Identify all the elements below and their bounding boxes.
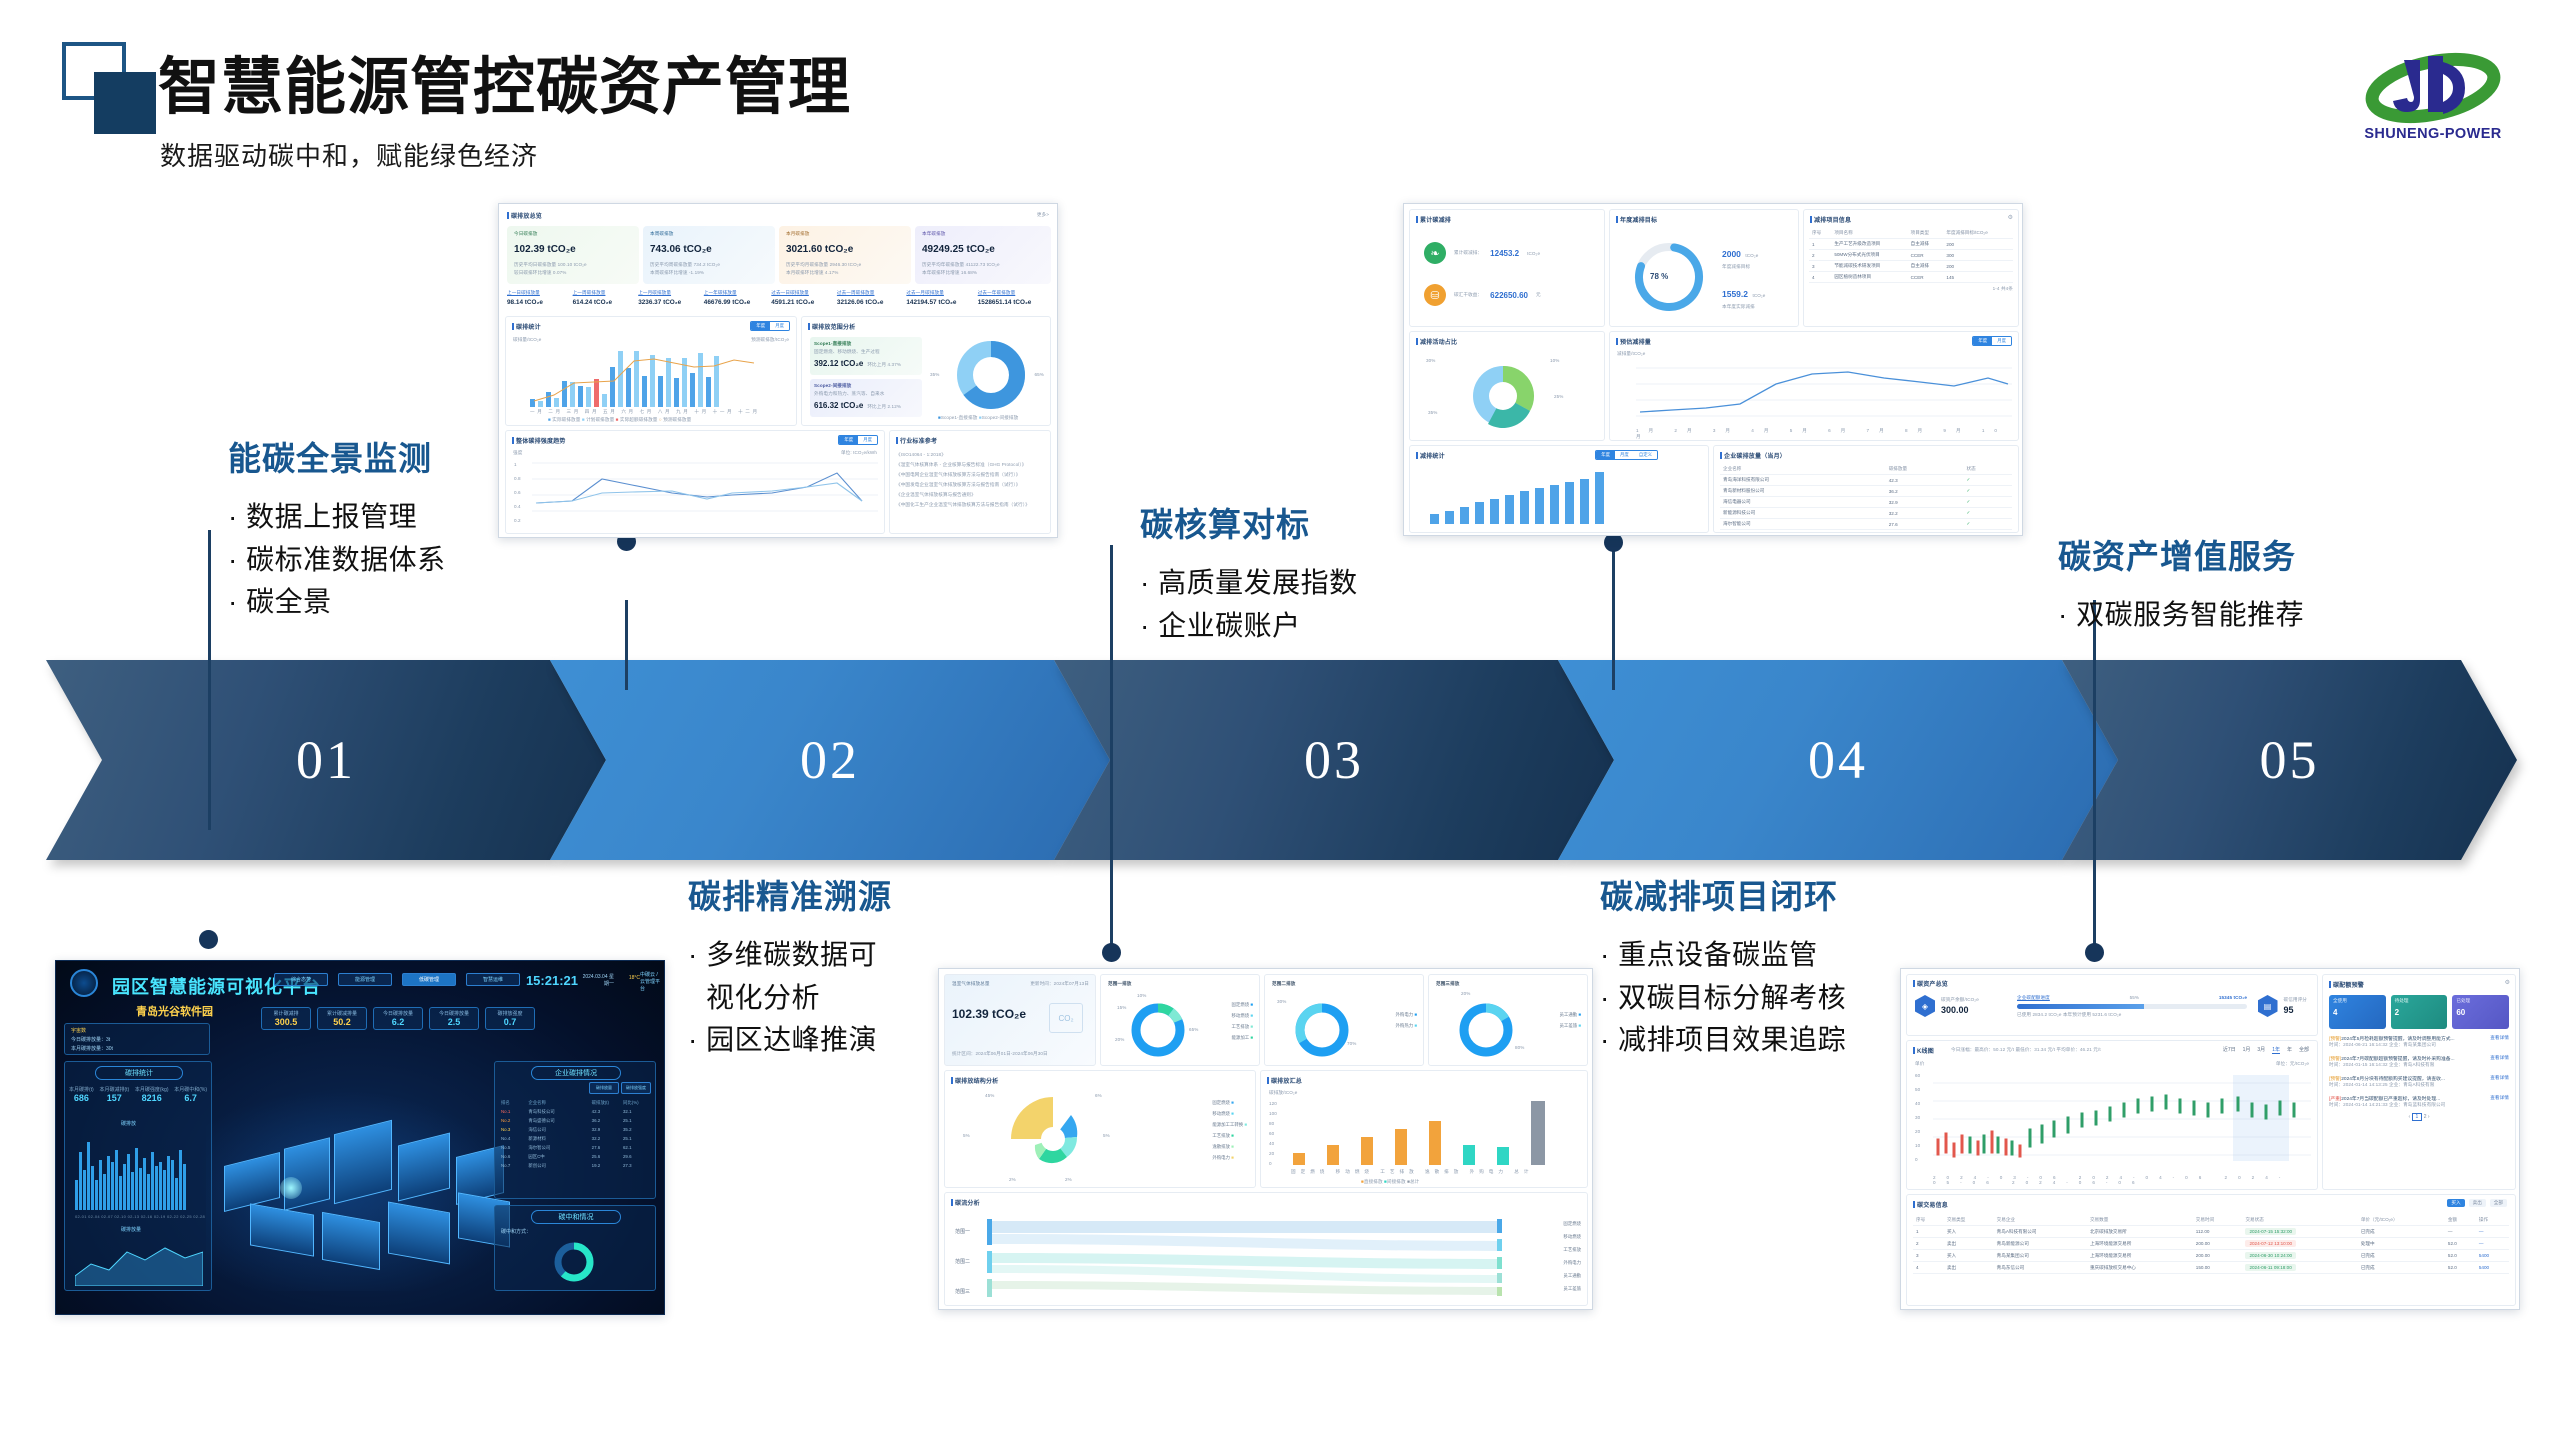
- axis-label-right: 预测碳排放/tCO₂e: [751, 337, 789, 343]
- progress-value: 15345 tCO₂e: [2219, 995, 2247, 1001]
- sub-kpi-label[interactable]: 上一日碳排放量: [507, 290, 573, 296]
- panel-scope3: 范围三排放 20% 80% 员工通勤 ■ 员工差旅 ■: [1428, 974, 1588, 1066]
- stat-bars: [1430, 472, 1604, 524]
- panel-sankey: 碳流分析 范围一范围二范围三 固定燃烧移动燃烧: [944, 1192, 1588, 1306]
- connector-dot-05: [2085, 943, 2104, 962]
- connector-stem-05: [2093, 600, 2096, 945]
- panel-title: 碳排统计: [512, 322, 541, 331]
- step-text-02: 碳排精准溯源 · 多维碳数据可 视化分析 · 园区达峰推演: [688, 870, 892, 1062]
- step-text-04: 碳减排项目闭环 · 重点设备碳监管 · 双碳目标分解考核 · 减排项目效果追踪: [1600, 870, 1846, 1062]
- legend-item: 实际碳排放量: [552, 417, 580, 422]
- trade-toggle[interactable]: 买入 卖出 全部: [2447, 1199, 2507, 1207]
- nav-item-0[interactable]: 综合态势: [274, 973, 328, 986]
- step-bullet-02-2: 视化分析: [688, 977, 892, 1020]
- slice-label: 20%: [1115, 1037, 1125, 1042]
- legend-item: 计划碳排放量: [586, 417, 614, 422]
- legend-item: Scope2-间接排放: [982, 415, 1019, 420]
- range-3m[interactable]: 3月: [2257, 1046, 2265, 1054]
- metric-label: 今日碳排放量: [374, 1010, 422, 1017]
- process-arrow-ribbon: 01 02 03 04 05: [46, 660, 2516, 860]
- screenshot-carbon-trace[interactable]: 温室气体排放总量 更新时间：2024年07月13日 102.39 tCO₂e 统…: [938, 968, 1593, 1310]
- slice-label: 6%: [1095, 1093, 1102, 1098]
- company-logo: SHUNENG-POWER: [2358, 42, 2508, 146]
- panel-quota-alert: 碳配额预警 ⚙ 全使用 4 待处理 2 已处理 60: [2322, 974, 2516, 1190]
- alert-card-2[interactable]: 已处理 60: [2452, 995, 2509, 1029]
- table-header-row: 序号交易类型 交易企业交易数量 交易时间交易状态 单价（元/tCO₂e）金额 操…: [1913, 1215, 2509, 1226]
- platform-park-name: 青岛光谷软件园: [136, 1003, 213, 1019]
- scope-donut-chart: [952, 339, 1030, 411]
- step-bullet-03-1: · 高质量发展指数: [1140, 562, 1358, 605]
- process-step-03-arrow[interactable]: 03: [1054, 660, 1614, 860]
- pie-label: 35%: [1428, 410, 1438, 415]
- panel-title: 累计碳减排: [1416, 215, 1451, 224]
- slice-label: 70%: [1347, 1041, 1357, 1046]
- alert-meta: 时间：2024-01-14 14:21:33 企业：青岛蓝科技有限公司: [2329, 1102, 2509, 1108]
- sum-legend: ■直接排放 ■间接排放 ■总计: [1361, 1179, 1419, 1185]
- metric-value: 2.5: [430, 1017, 478, 1027]
- metric-label: 累计碳减排量: [318, 1010, 366, 1017]
- nav-item-3[interactable]: 智慧运维: [466, 973, 520, 986]
- slice-label: 15%: [1117, 1005, 1127, 1010]
- platform-top-metrics: 累计碳减排 300.5 累计碳减排量 50.2 今日碳排放量 6.2 今日碳排放…: [261, 1007, 535, 1030]
- step-bullet-02-3: · 园区达峰推演: [688, 1019, 892, 1062]
- step-number-02: 02: [550, 660, 1110, 860]
- panel-title: 碳资产总览: [1913, 979, 1948, 988]
- metric-tile: 累计碳减排 300.5: [261, 1007, 311, 1030]
- range-7d[interactable]: 近7日: [2223, 1046, 2236, 1054]
- logo-wordmark: SHUNENG-POWER: [2358, 126, 2508, 142]
- table-row[interactable]: No.3海信公司 32.935.2: [501, 1127, 649, 1133]
- table-row[interactable]: 250MW分布式光伏项目 CCER300: [1809, 250, 2013, 261]
- panel-title: 碳排放范围分析: [808, 322, 855, 331]
- alert-link[interactable]: 查看详情: [2490, 1055, 2509, 1062]
- forecast-x-axis: 1月 2月 3月 4月 5月 6月 7月 8月 9月 10月: [1636, 428, 2018, 440]
- progress-label[interactable]: 企业碳配额进度: [2017, 995, 2050, 1001]
- legend-item: 移动燃烧 ■: [1212, 1108, 1247, 1119]
- sum-unit: 碳排放/tCO₂e: [1269, 1090, 1297, 1096]
- range-year[interactable]: 年: [2287, 1046, 2292, 1054]
- step-bullet-01-3: · 碳全景: [228, 581, 446, 624]
- panel-forecast-reduction: 预估减排量 年度 月度 减排量/tCO₂e 1月 2月 3月 4月 5月 6月 …: [1609, 331, 2019, 441]
- metric: 本月碳减排(t) 157: [99, 1086, 129, 1103]
- page-2[interactable]: 2: [2424, 1114, 2427, 1120]
- scope1-card: Scope1-直接排放 固定燃烧、移动燃烧、生产过程 392.12 tCO₂e …: [810, 337, 922, 375]
- chart-legend-2: 碳排放量: [121, 1226, 141, 1233]
- toggle-year-month[interactable]: 年度 月度: [750, 321, 790, 331]
- kpi-card-week: 本周碳排放 743.06 tCO₂e 历史平均周碳排放量 734.2 tCO₂e…: [643, 226, 775, 284]
- col-header: 状态: [1964, 464, 2013, 475]
- toggle-trend-range[interactable]: 年度 月度: [838, 435, 878, 445]
- sub-kpi: 上一日碳排放量 98.14 tCO₂e: [507, 290, 573, 306]
- sankey-left-labels: 范围一范围二范围三: [955, 1217, 970, 1307]
- panel-title: 范围三排放: [1436, 981, 1459, 987]
- pie-label: 30%: [1426, 358, 1436, 363]
- screenshot-park-platform[interactable]: 园区智慧能源可视化平台 青岛光谷软件园 综合态势 能源管理 低碳管理 智慧运维 …: [55, 960, 665, 1315]
- co2-badge-icon: CO₂: [1049, 1003, 1083, 1033]
- progress-block: 企业碳配额进度 55% 15345 tCO₂e 已使用 2834.2 tCO₂e…: [2017, 995, 2247, 1018]
- scope1-delta: 环比上月 4.37%: [867, 362, 901, 368]
- alert-item[interactable]: [预警]2024年5月检耗超额预警提醒，请及时调整用能方式... 查看详情 时间…: [2329, 1035, 2509, 1048]
- metric: 本月碳强度(kg) 8216: [135, 1086, 169, 1103]
- target-percent: 78 %: [1650, 272, 1668, 281]
- legend-item: 外购电力 ■: [1212, 1152, 1247, 1163]
- step-text-03: 碳核算对标 · 高质量发展指数 · 企业碳账户: [1140, 498, 1358, 647]
- scope3-donut: [1453, 997, 1519, 1063]
- trade-buy[interactable]: 买入: [2447, 1199, 2464, 1207]
- panel-scope-analysis: 碳排放范围分析 Scope1-直接排放 固定燃烧、移动燃烧、生产过程 392.1…: [801, 316, 1051, 426]
- chart-summary: 今日涨幅：最高价：50.12 元/t 最低价：31.34 元/t 平均单价：46…: [1951, 1047, 2101, 1053]
- slice-label: 65%: [1189, 1027, 1199, 1032]
- alert-item[interactable]: [严重]2024年7月当碳配额已严重超标，请及时处理... 查看详情 时间：20…: [2329, 1095, 2509, 1108]
- progress-used: 已使用 2834.2 tCO₂e 本年预计使用 5231.6 tCO₂e: [2017, 1012, 2247, 1018]
- table-row[interactable]: 海信电器公司32.9✓: [1720, 497, 2012, 508]
- col-header: 序号: [1809, 228, 1831, 239]
- standard-item[interactable]: 《中国发电企业温室气体排放核算方法与报告指南（试行）》: [896, 480, 1046, 490]
- score-value: 95: [2284, 1005, 2307, 1015]
- table-row[interactable]: No.2青岛盛德公司 36.225.1: [501, 1118, 649, 1124]
- col-header: 年度减排目标/tCO₂e: [1943, 228, 2013, 239]
- panel-scope1: 范围一排放 10% 15% 20% 65% 固定燃烧 ■ 移动燃烧 ■ 工艺排放…: [1100, 974, 1260, 1066]
- reduction-row: ❧ 累计碳减排： 12453.2 tCO₂e: [1424, 242, 1540, 264]
- total-label: 温室气体排放总量: [952, 981, 990, 987]
- standard-item[interactable]: 《温室气体核算体系 - 企业核算与报告标准（GHG Protocol）》: [896, 460, 1046, 470]
- table-row[interactable]: No.5海尔智公司 27.662.1: [501, 1145, 649, 1151]
- hexagon-icon: ◈: [1915, 995, 1935, 1017]
- row-unit: tCO₂e: [1527, 251, 1540, 256]
- sub-kpi-value: 1528651.14 tCO₂e: [978, 299, 1051, 306]
- logo-swoosh-icon: [2358, 42, 2508, 132]
- range-all[interactable]: 全部: [2299, 1046, 2309, 1054]
- trade-sell[interactable]: 卖出: [2469, 1199, 2486, 1207]
- table-row[interactable]: 2卖出 青岛新能源公司上海环境能源交易所 200.00 2024-07-12 1…: [1913, 1238, 2509, 1250]
- table-row[interactable]: 1买入 青岛A科技有限公司北京碳排放交易所 112.00 2024-07-15 …: [1913, 1226, 2509, 1238]
- legend-item: 固定燃烧 ■: [1212, 1097, 1247, 1108]
- toggle-option-year[interactable]: 年度: [1596, 451, 1615, 459]
- legend-item: 外购热力 ■: [1396, 1020, 1417, 1031]
- reduction-row: ⛁ 碳汇干收益： 622650.60 元: [1424, 284, 1541, 306]
- process-step-04-arrow[interactable]: 04: [1558, 660, 2118, 860]
- step-bullet-05-1: · 双碳服务智能推荐: [2058, 594, 2304, 637]
- alert-link[interactable]: 查看详情: [2490, 1095, 2509, 1102]
- metric-label: 碳排放强度: [486, 1010, 534, 1017]
- metric-value: 0.7: [486, 1017, 534, 1027]
- toggle-stat-range[interactable]: 年度 月度 自定义: [1595, 450, 1658, 460]
- step-number-01: 01: [46, 660, 606, 860]
- neutral-label: 碳中和方式：: [501, 1228, 531, 1235]
- panel-title: 碳中和情况: [531, 1210, 621, 1224]
- sankey-flows: [987, 1217, 1507, 1301]
- brand-mark-icon: [62, 42, 158, 134]
- kpi-note-2: 本年碳排环比增速 16.68%: [922, 270, 1044, 276]
- table-row[interactable]: 3买入 青岛某集团公司上海环境能源交易所 200.00 2024-06-30 1…: [1913, 1250, 2509, 1262]
- sub-kpi: 过去一年碳排放量 1528651.14 tCO₂e: [978, 290, 1051, 306]
- kpi-card-month: 本月碳排放 3021.60 tCO₂e 历史平均月碳排放量 2946.30 tC…: [779, 226, 911, 284]
- trade-all[interactable]: 全部: [2490, 1199, 2507, 1207]
- panel-enterprise-ranking: 企业碳排情况 碳排放量 碳排放强度 排名企业名称 碳排放(t)同比(%) No.…: [494, 1061, 656, 1199]
- alert-count: 2: [2395, 1008, 2444, 1017]
- platform-date: 2024.03.04 星期一: [580, 973, 614, 987]
- legend-item: 能源加工工转换 ■: [1212, 1119, 1247, 1130]
- legend-item: 移动燃烧 ■: [1232, 1010, 1253, 1021]
- legend-item: 工艺排放 ■: [1232, 1021, 1253, 1032]
- kpi-value: 3021.60 tCO₂e: [786, 244, 904, 255]
- alert-meta: 时间：2024-06-21 16:14:32 企业：青岛某集团公司: [2329, 1042, 2509, 1048]
- toggle-option-custom[interactable]: 自定义: [1634, 451, 1657, 459]
- table-row[interactable]: No.4新源材料 32.225.1: [501, 1136, 649, 1142]
- range-selector[interactable]: 近7日 1月 3月 1年 年 全部: [2223, 1046, 2309, 1054]
- activity-pie: [1458, 356, 1548, 436]
- range-1y[interactable]: 1年: [2272, 1046, 2280, 1054]
- metric-label: 累计碳减排: [262, 1010, 310, 1017]
- progress-pct: 55%: [2130, 995, 2140, 1001]
- platform-orb-icon: [70, 969, 98, 997]
- sub-kpi: 过去一日碳排放量 4591.21 tCO₂e: [771, 290, 837, 306]
- gear-icon[interactable]: ⚙: [2505, 979, 2510, 986]
- standard-item[interactable]: 《中国化工生产企业温室气体排放核算方法与报告指南（试行）》: [896, 500, 1046, 510]
- platform-tooltip: 宇宙数 今日碳排放量：3t 本月碳排放量：30t: [64, 1023, 210, 1055]
- table-row[interactable]: 4园区植树造林项目 CCER145: [1809, 272, 2013, 283]
- sub-kpi-label[interactable]: 过去一周碳排放量: [837, 290, 906, 296]
- table-header-row: 企业名称 碳排放量 状态: [1720, 464, 2012, 475]
- more-link[interactable]: 更多>: [1037, 212, 1049, 218]
- sub-kpi-label[interactable]: 上一周碳排放量: [573, 290, 639, 296]
- kline-x-axis: 2024-03-06 2024-04-06 2024-05-06 2024-06…: [1933, 1175, 2317, 1185]
- sub-kpi: 过去一月碳排放量 142194.57 tCO₂e: [906, 290, 977, 306]
- sum-y-ticks: 120100 8060 4020 0: [1269, 1099, 1277, 1169]
- chart-legend: ■ 实际碳排放量 ■ 计划碳排放量 ■ 实际超额碳排放量 ○ 预测碳排放量: [548, 417, 691, 423]
- legend-item: 总计: [1410, 1179, 1419, 1184]
- toggle-option-month[interactable]: 月度: [770, 322, 789, 330]
- alert-card-0[interactable]: 全使用 4: [2329, 995, 2386, 1029]
- legend-item: 固定燃烧 ■: [1232, 999, 1253, 1010]
- sub-kpi-value: 3236.37 tCO₂e: [638, 299, 704, 306]
- weather-icon: 18°C: [629, 975, 640, 981]
- screenshot-carbon-overview[interactable]: 碳排放总览 更多> 今日碳排放 102.39 tCO₂e 历史平均日碳排放量 1…: [498, 203, 1058, 538]
- panel-cumulative-reduction: 累计碳减排 ❧ 累计碳减排： 12453.2 tCO₂e ⛁ 碳汇干收益： 62…: [1409, 209, 1605, 327]
- trend-unit: 单位: tCO₂e/kWh: [841, 450, 877, 456]
- sub-kpi-value: 32126.06 tCO₂e: [837, 299, 906, 306]
- table-row[interactable]: 4卖出 青岛东信公司重庆碳排放权交易中心 150.00 2024-06-11 0…: [1913, 1262, 2509, 1274]
- actual-caption: 本年度实际减排: [1722, 304, 1765, 310]
- table-row[interactable]: No.7新创公司 19.227.3: [501, 1163, 649, 1169]
- toggle-option-month[interactable]: 月度: [1615, 451, 1634, 459]
- platform-bar-series: [75, 1136, 186, 1210]
- toggle-option-year[interactable]: 年度: [1973, 337, 1992, 345]
- sub-kpi: 上一周碳排放量 614.24 tCO₂e: [573, 290, 639, 306]
- legend-item: 实际超额碳排放量: [620, 417, 658, 422]
- donut-legend: ■Scope1-直接排放 ■Scope2-间接排放: [938, 415, 1018, 421]
- scope1-value: 392.12 tCO₂e: [814, 359, 863, 368]
- table-row[interactable]: 青岛新材料股份公司36.2✓: [1720, 486, 2012, 497]
- sub-kpi: 过去一周碳排放量 32126.06 tCO₂e: [837, 290, 906, 306]
- toggle-option-month[interactable]: 月度: [858, 436, 877, 444]
- scope1-desc: 固定燃烧、移动燃烧、生产过程: [814, 349, 918, 355]
- axis-label-left: 碳排量/tCO₂e: [513, 337, 541, 343]
- sub-kpi-value: 142194.57 tCO₂e: [906, 299, 977, 306]
- panel-title: 年度减排目标: [1616, 215, 1657, 224]
- step-title-05: 碳资产增值服务: [2058, 530, 2304, 578]
- sub-kpi-label[interactable]: 过去一月碳排放量: [906, 290, 977, 296]
- score-label: 碳信用评分: [2284, 997, 2307, 1003]
- kpi-note-1: 历史平均月碳排放量 2946.30 tCO₂e: [786, 262, 904, 268]
- sub-kpi-label[interactable]: 过去一年碳排放量: [978, 290, 1051, 296]
- panel-title: K线图: [1913, 1046, 1934, 1055]
- panel-title: 碳排放汇总: [1267, 1076, 1302, 1085]
- kpi-label: 本周碳排放: [650, 231, 768, 237]
- step-title-02: 碳排精准溯源: [688, 870, 892, 918]
- panel-total-emission: 温室气体排放总量 更新时间：2024年07月13日 102.39 tCO₂e 统…: [944, 974, 1096, 1066]
- tooltip-title: 宇宙数: [71, 1027, 86, 1034]
- city-3d-model[interactable]: [206, 1081, 536, 1291]
- donut-label-left: 35%: [930, 372, 940, 377]
- connector-stem-02: [625, 600, 628, 690]
- sub-kpi-label[interactable]: 上一月碳排放量: [638, 290, 704, 296]
- step-text-05: 碳资产增值服务 · 双碳服务智能推荐: [2058, 530, 2304, 637]
- total-value: 102.39 tCO₂e: [952, 1007, 1026, 1021]
- panel-kline: K线图 今日涨幅：最高价：50.12 元/t 最低价：31.34 元/t 平均单…: [1906, 1040, 2318, 1190]
- forecast-unit: 减排量/tCO₂e: [1617, 351, 1645, 357]
- panel-title: 范围一排放: [1108, 981, 1131, 987]
- toggle-forecast-range[interactable]: 年度 月度: [1972, 336, 2012, 346]
- kpi-label: 本月碳排放: [786, 231, 904, 237]
- slice-label: 20%: [1461, 991, 1471, 996]
- alert-link[interactable]: 查看详情: [2490, 1075, 2509, 1082]
- page-title: 智慧能源管控碳资产管理: [158, 36, 851, 126]
- alert-count: 4: [2333, 1008, 2382, 1017]
- actual-unit: tCO₂e: [1752, 293, 1765, 298]
- standard-item[interactable]: 《企业温室气体排放核算与报告通则》: [896, 490, 1046, 500]
- scope2-value: 616.32 tCO₂e: [814, 401, 863, 410]
- alert-status: 已处理: [2456, 998, 2505, 1004]
- pagination[interactable]: ‹ 1 2 ›: [2329, 1114, 2509, 1120]
- step-bullet-04-1: · 重点设备碳监管: [1600, 934, 1846, 977]
- col-header: 碳排放量: [1886, 464, 1964, 475]
- screenshot-carbon-asset[interactable]: 碳资产总览 ◈ 碳资产余额/tCO₂e 300.00 企业碳配额进度 55% 1…: [1900, 968, 2520, 1310]
- alert-card-1[interactable]: 待处理 2: [2391, 995, 2448, 1029]
- range-1m[interactable]: 1月: [2243, 1046, 2251, 1054]
- slice-label: 30%: [1277, 999, 1287, 1004]
- table-row[interactable]: No.6园区C中 25.629.6: [501, 1154, 649, 1160]
- nav-item-2[interactable]: 低碳管理: [402, 973, 456, 986]
- slice-label: 45%: [985, 1093, 995, 1098]
- toggle-option-year[interactable]: 年度: [751, 322, 770, 330]
- toggle-option-month[interactable]: 月度: [1992, 337, 2011, 345]
- tooltip-row: 今日碳排放量：3t: [71, 1036, 110, 1043]
- tooltip-row: 本月碳排放量：30t: [71, 1045, 113, 1052]
- kpi-card-today: 今日碳排放 102.39 tCO₂e 历史平均日碳排放量 100.10 tCO₂…: [507, 226, 639, 284]
- sub-kpi-label[interactable]: 过去一日碳排放量: [771, 290, 837, 296]
- table-row[interactable]: No.1青岛科技公司 42.332.1: [501, 1109, 649, 1115]
- summary-bars: [1293, 1101, 1545, 1165]
- leaf-icon: ❧: [1424, 242, 1446, 264]
- alert-status: 待处理: [2395, 998, 2444, 1004]
- process-step-01-arrow[interactable]: 01: [46, 660, 606, 860]
- standard-item[interactable]: 《ISO14064 - 1:2018》: [896, 450, 1046, 460]
- legend-item: 间接排放: [1387, 1179, 1406, 1184]
- page-1[interactable]: 1: [2412, 1113, 2423, 1121]
- step-bullet-02-1: · 多维碳数据可: [688, 934, 892, 977]
- panel-title: 行业标准参考: [896, 436, 937, 445]
- sub-kpi: 上一月碳排放量 3236.37 tCO₂e: [638, 290, 704, 306]
- kpi-note-1: 历史平均年碳排放量 41122.73 tCO₂e: [922, 262, 1044, 268]
- process-step-05-arrow[interactable]: 05: [2062, 660, 2517, 860]
- sub-kpi-value: 614.24 tCO₂e: [573, 299, 639, 306]
- row-value: 622650.60: [1490, 291, 1528, 300]
- kpi-card-year: 本年碳排放 49249.25 tCO₂e 历史平均年碳排放量 41122.73 …: [915, 226, 1051, 284]
- sankey-right-labels: 固定燃烧移动燃烧 工艺排放外购电力 员工通勤员工差旅: [1563, 1217, 1581, 1295]
- trend-lines: [532, 457, 878, 529]
- panel-project-info: 减排项目信息 ⚙ 序号 项目名称 项目类型 年度减排目标/tCO₂e 1生产工艺…: [1803, 209, 2019, 327]
- step-bullet-04-3: · 减排项目效果追踪: [1600, 1019, 1846, 1062]
- standard-item[interactable]: 《中国电网企业温室气体排放核算方法与报告指南（试行）》: [896, 470, 1046, 480]
- connector-stem-04: [1612, 545, 1615, 690]
- panel-platform-emission-stats: 碳排统计 本月碳排(t) 686 本月碳减排(t) 157 本月碳强度(kg) …: [64, 1061, 212, 1291]
- quota-label: 碳资产余额/tCO₂e: [1941, 997, 1979, 1003]
- gear-icon[interactable]: ⚙: [2008, 214, 2013, 221]
- kpi-note-1: 历史平均日碳排放量 100.10 tCO₂e: [514, 262, 632, 268]
- money-bag-icon: ⛁: [1424, 284, 1446, 306]
- connector-dot-01: [199, 930, 218, 949]
- legend-item: 员工差旅 ■: [1560, 1020, 1581, 1031]
- sub-kpi-value: 98.14 tCO₂e: [507, 299, 573, 306]
- alert-count: 60: [2456, 1008, 2505, 1017]
- slice-label: 2%: [1065, 1177, 1072, 1182]
- table-row[interactable]: 3节能减碳技术研发项目 自主减排200: [1809, 261, 2013, 272]
- total-range: 统计区间：2024年06月01日-2024年06月30日: [952, 1051, 1048, 1057]
- legend-item: 逸散排放 ■: [1212, 1141, 1247, 1152]
- sub-kpi-label[interactable]: 上一年碳排放量: [704, 290, 772, 296]
- panel-structure-analysis: 碳排放结构分析 45% 6% 5% 5% 2% 2% 固定燃烧 ■ 移动燃烧 ■…: [944, 1070, 1256, 1188]
- toggle-intensity[interactable]: 碳排放强度: [621, 1082, 651, 1094]
- step-title-01: 能碳全景监测: [228, 432, 446, 480]
- panel-title: 碳流分析: [951, 1198, 980, 1207]
- col-header: 企业名称: [1720, 464, 1886, 475]
- metric-tile: 累计碳减排量 50.2: [317, 1007, 367, 1030]
- col-header: 项目名称: [1831, 228, 1907, 239]
- table-footer: 1-4 共4条: [1809, 286, 2013, 292]
- platform-corner-link[interactable]: 中碳云 / 云管理平台: [640, 971, 660, 992]
- slice-label: 5%: [963, 1133, 970, 1138]
- nav-item-1[interactable]: 能源管理: [338, 973, 392, 986]
- alert-item[interactable]: [预警]2024年8月分块有待配额购买建议提醒，请查收... 查看详情 时间：2…: [2329, 1075, 2509, 1088]
- table-row[interactable]: 青岛海洋科技有限公司42.3✓: [1720, 475, 2012, 486]
- table-row[interactable]: 1生产工艺升级改造项目 自主减排200: [1809, 239, 2013, 250]
- quota-value: 300.00: [1941, 1005, 1979, 1015]
- panel-reduction-statistics: 减排统计 年度 月度 自定义: [1409, 445, 1709, 533]
- toggle-option-year[interactable]: 年度: [839, 436, 858, 444]
- process-step-02-arrow[interactable]: 02: [550, 660, 1110, 860]
- alert-link[interactable]: 查看详情: [2490, 1035, 2509, 1042]
- alert-item[interactable]: [预警]2024年7月碳配额超额预警提醒，请及时补采购准备... 查看详情 时间…: [2329, 1055, 2509, 1068]
- panel-title: 减排活动占比: [1416, 337, 1457, 346]
- table-row[interactable]: 海尔智能公司27.6✓: [1720, 519, 2012, 530]
- trend-y-ticks: 1 0.8 0.6 0.4 0.2: [514, 458, 521, 528]
- panel-title-carbon-total: 碳排放总览: [507, 211, 542, 220]
- platform-area-chart: [75, 1238, 203, 1286]
- step-number-03: 03: [1054, 660, 1614, 860]
- table-row[interactable]: 新能源科技公司32.2✓: [1720, 508, 2012, 519]
- infographic-root: 智慧能源管控碳资产管理 数据驱动碳中和，赋能绿色经济 SHUNENG-POWER…: [0, 0, 2560, 1440]
- sub-kpi-strip: 上一日碳排放量 98.14 tCO₂e 上一周碳排放量 614.24 tCO₂e…: [507, 290, 1051, 306]
- alert-meta: 时间：2024-01-15 16:14:32 企业：青岛A科技有限: [2329, 1062, 2509, 1068]
- target-caption: 年度减排目标: [1722, 264, 1758, 270]
- sub-kpi-value: 4591.21 tCO₂e: [771, 299, 837, 306]
- panel-title: 减排项目信息: [1810, 215, 1851, 224]
- toggle-emission[interactable]: 碳排放量: [589, 1082, 619, 1094]
- panel-asset-overview: 碳资产总览 ◈ 碳资产余额/tCO₂e 300.00 企业碳配额进度 55% 1…: [1906, 974, 2318, 1036]
- step-bullet-01-2: · 碳标准数据体系: [228, 539, 446, 582]
- screenshot-carbon-reduction[interactable]: 累计碳减排 ❧ 累计碳减排： 12453.2 tCO₂e ⛁ 碳汇干收益： 62…: [1403, 203, 2023, 536]
